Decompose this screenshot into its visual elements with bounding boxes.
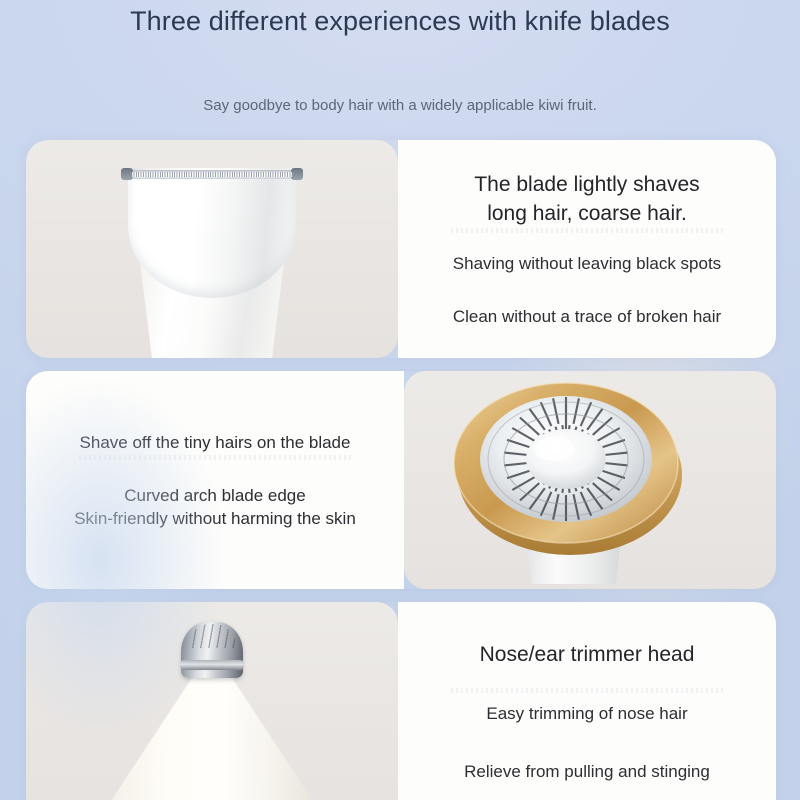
card-1-line-2: Clean without a trace of broken hair bbox=[453, 305, 721, 328]
card-3-line-2: Relieve from pulling and stinging bbox=[464, 760, 710, 783]
card-2-line-2: Curved arch blade edge bbox=[124, 484, 305, 507]
feature-card-gold-rotary-head: Shave off the tiny hairs on the blade Cu… bbox=[26, 371, 776, 589]
card-3-headline: Nose/ear trimmer head bbox=[480, 640, 695, 669]
watermark-stripe bbox=[79, 455, 351, 460]
watermark-stripe bbox=[451, 228, 723, 233]
trimmer-cone-body bbox=[97, 672, 327, 800]
card-2-text-panel: Shave off the tiny hairs on the blade Cu… bbox=[26, 371, 404, 589]
feature-card-blade-foil-trimmer: The blade lightly shaves long hair, coar… bbox=[26, 140, 776, 358]
gold-head-illustration bbox=[404, 371, 776, 589]
card-1-text-panel: The blade lightly shaves long hair, coar… bbox=[398, 140, 776, 358]
gold-foil-head-svg bbox=[448, 379, 698, 584]
infographic-page: Three different experiences with knife b… bbox=[0, 0, 800, 800]
page-header: Three different experiences with knife b… bbox=[0, 0, 800, 116]
trimmer-blade-teeth bbox=[131, 172, 293, 177]
trimmer-illustration bbox=[26, 140, 398, 358]
card-1-line-1: Shaving without leaving black spots bbox=[453, 252, 721, 275]
foil-center-hub bbox=[526, 429, 606, 489]
card-3-text-panel: Nose/ear trimmer head Easy trimming of n… bbox=[398, 602, 776, 800]
page-title: Three different experiences with knife b… bbox=[0, 0, 800, 38]
nose-ear-trimmer-head-image bbox=[26, 602, 398, 800]
hub-highlight bbox=[534, 437, 574, 461]
card-2-line-1: Shave off the tiny hairs on the blade bbox=[80, 431, 351, 454]
card-3-line-1: Easy trimming of nose hair bbox=[486, 702, 687, 725]
watermark-stripe bbox=[451, 688, 723, 693]
nose-trimmer-illustration bbox=[26, 602, 398, 800]
card-2-line-3: Skin-friendly without harming the skin bbox=[74, 507, 356, 530]
card-1-headline: The blade lightly shaves long hair, coar… bbox=[474, 170, 699, 228]
gold-rotary-foil-head-image bbox=[404, 371, 776, 589]
flat-foil-trimmer-head-image bbox=[26, 140, 398, 358]
page-subtitle: Say goodbye to body hair with a widely a… bbox=[0, 38, 800, 116]
feature-card-nose-ear-trimmer: Nose/ear trimmer head Easy trimming of n… bbox=[26, 602, 776, 800]
trimmer-tip-ring bbox=[180, 660, 244, 670]
